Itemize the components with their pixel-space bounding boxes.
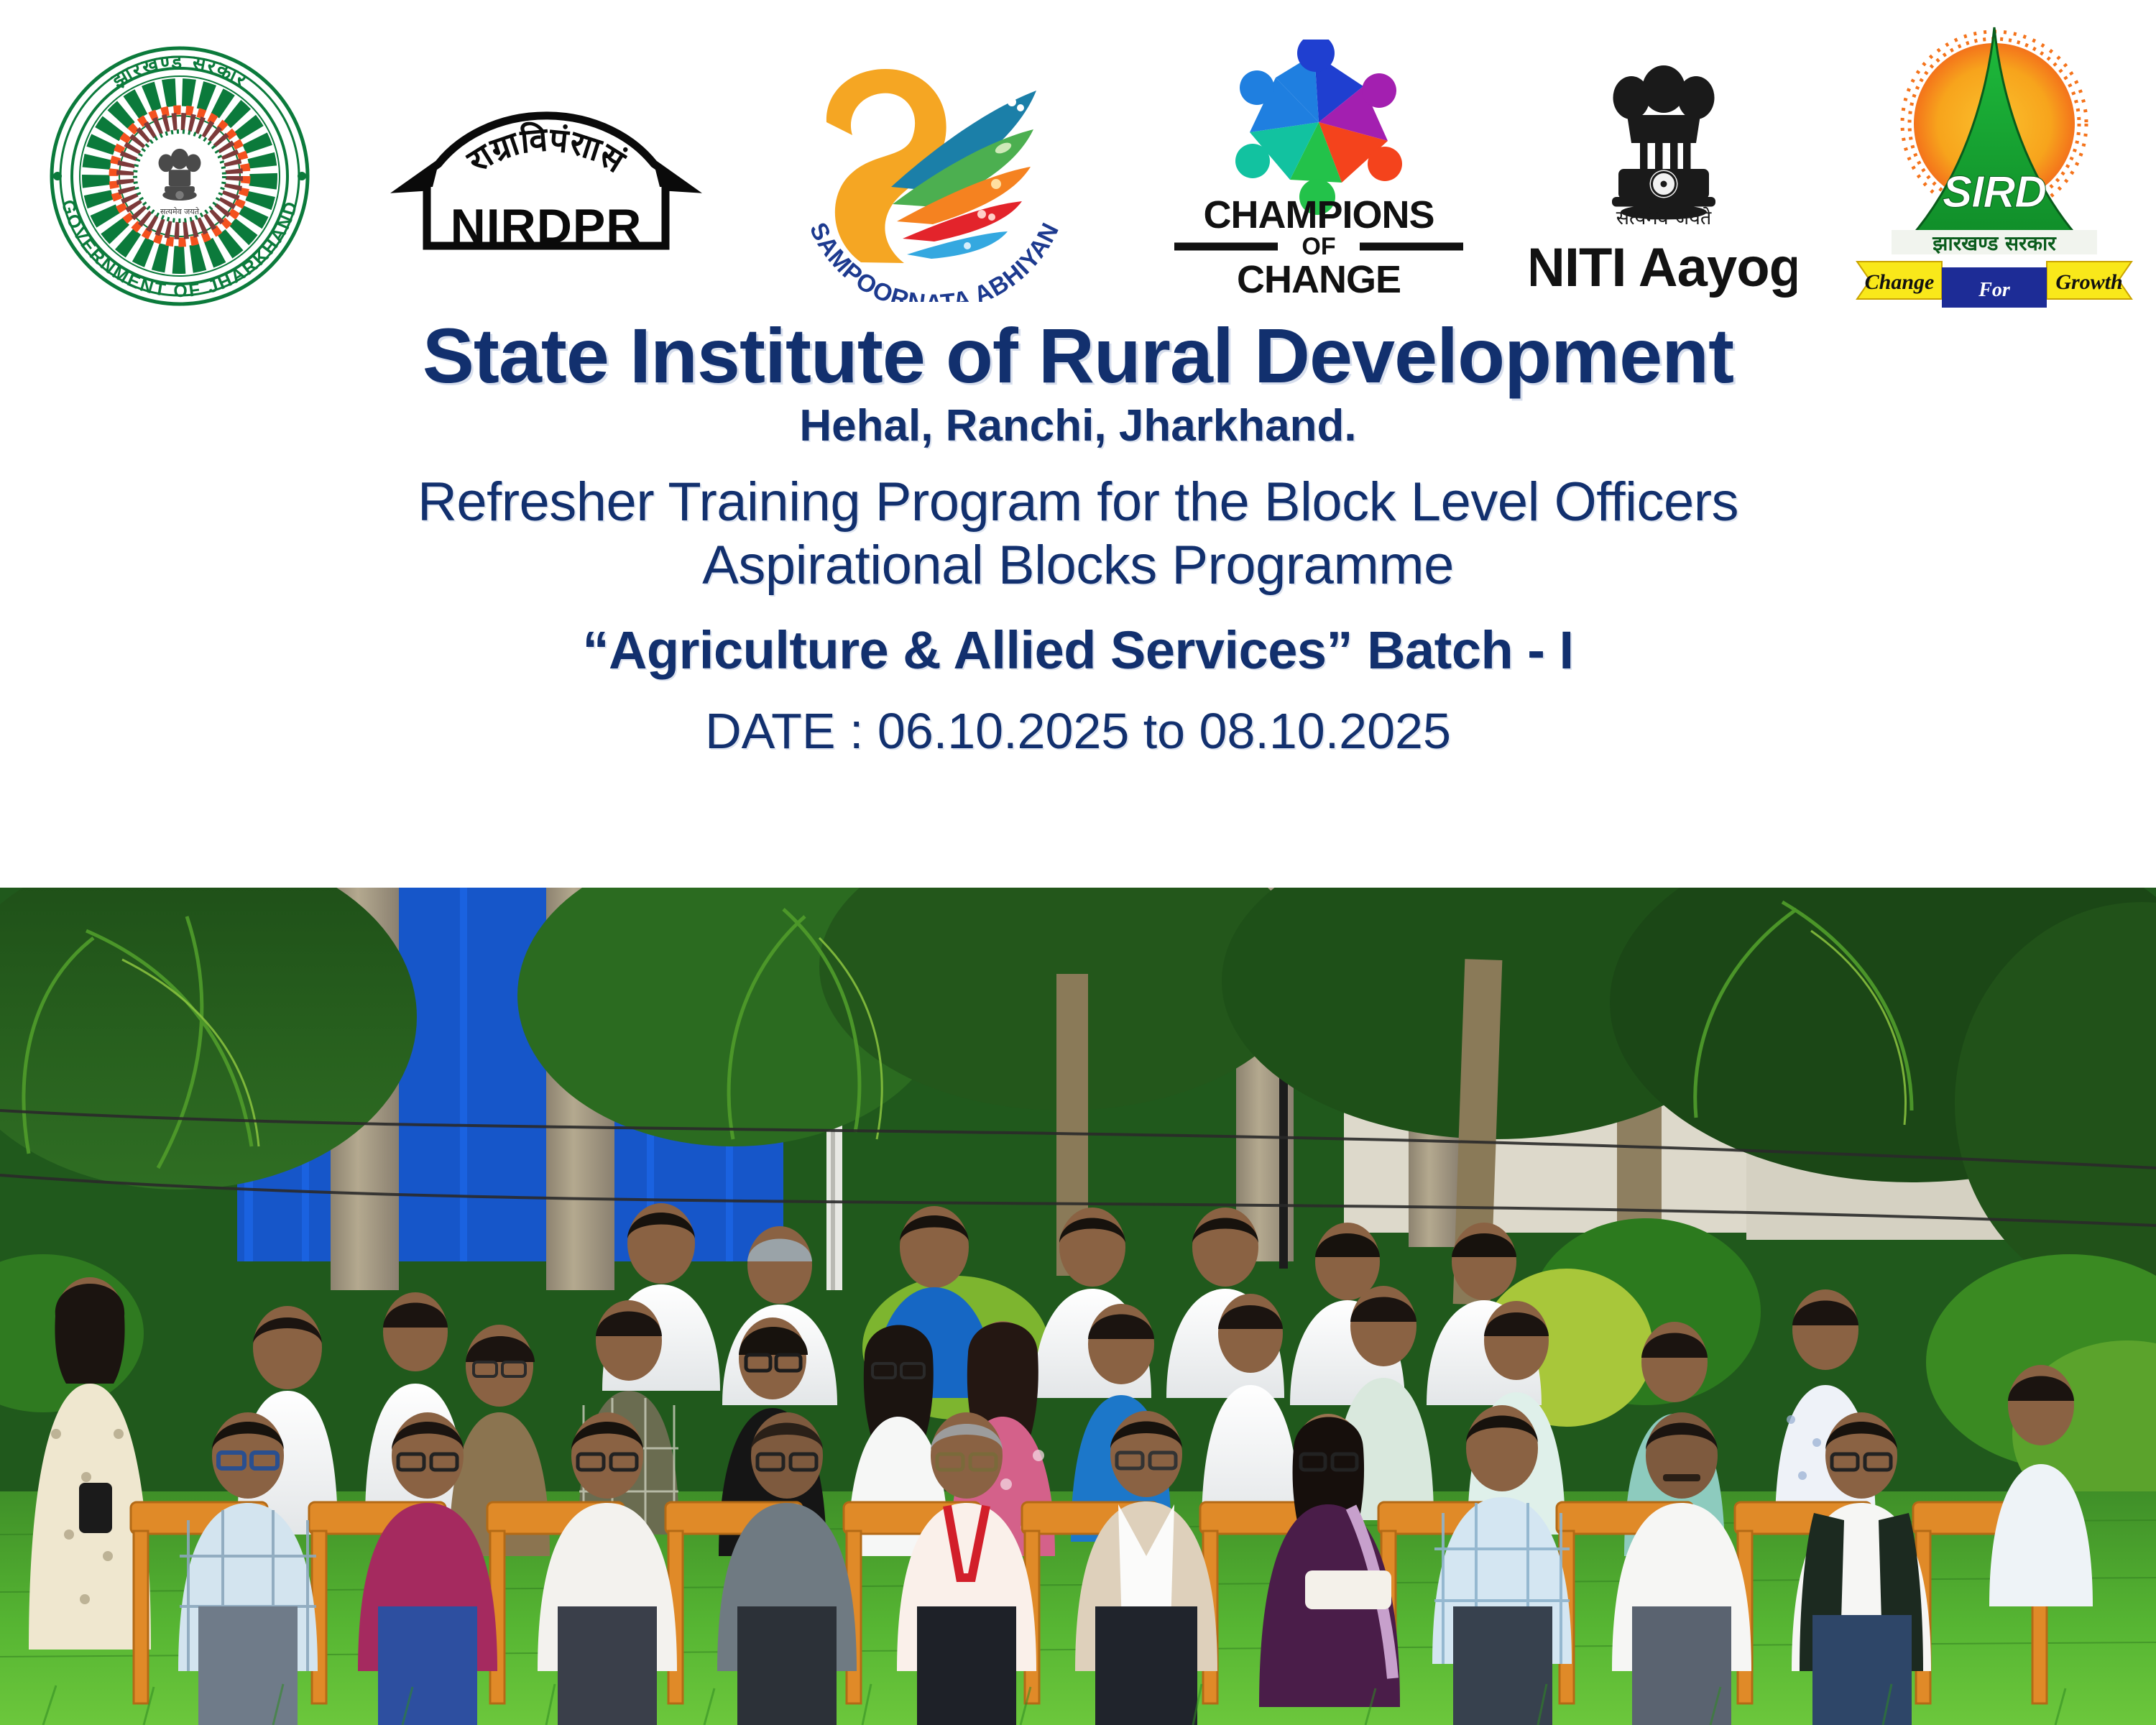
champions-line1-text: CHAMPIONS (1203, 193, 1434, 236)
institute-title: State Institute of Rural Development (0, 316, 2156, 395)
poster-root: सत्यमेव जयते झारखण्ड सरकार GOVERNMENT OF… (0, 0, 2156, 1725)
sampoornata-abhiyan-logo: SAMPOORNATA ABHIYAN (783, 50, 1085, 302)
logo-bar: सत्यमेव जयते झारखण्ड सरकार GOVERNMENT OF… (0, 0, 2156, 323)
sird-ribbon-right-text: Growth (2055, 270, 2122, 294)
sird-acronym-text: SIRD (1943, 167, 2046, 217)
sird-hindi-text: झारखण्ड सरकार (1932, 231, 2057, 255)
niti-label-text: NITI Aayog (1531, 237, 1797, 298)
nirdpr-logo: राग्राविपंराासं NIRDPR (388, 79, 704, 266)
champions-line3-text: CHANGE (1237, 258, 1401, 298)
champions-line2-text: OF (1302, 233, 1335, 260)
sird-logo: SIRD झारखण्ड सरकार Change For Growth (1847, 14, 2142, 316)
jharkhand-motto-text: सत्यमेव जयते (160, 207, 200, 216)
sird-ribbon-left-text: Change (1865, 270, 1935, 294)
nirdpr-acronym-text: NIRDPR (451, 199, 642, 254)
group-photograph (0, 888, 2156, 1725)
program-title-line-2: Aspirational Blocks Programme (0, 534, 2156, 597)
institute-location: Hehal, Ranchi, Jharkhand. (0, 402, 2156, 449)
government-of-jharkhand-logo: सत्यमेव जयते झारखण्ड सरकार GOVERNMENT OF… (29, 22, 331, 309)
niti-aayog-logo: सत्यमेव जयते NITI Aayog (1531, 43, 1797, 302)
sird-ribbon-mid-text: For (1978, 279, 2011, 301)
date-line: DATE : 06.10.2025 to 08.10.2025 (0, 704, 2156, 759)
program-title-line-1: Refresher Training Program for the Block… (0, 471, 2156, 533)
header-text-block: State Institute of Rural Development Heh… (0, 316, 2156, 759)
batch-title: “Agriculture & Allied Services” Batch - … (0, 621, 2156, 679)
niti-motto-text: सत्यमेव जयते (1616, 206, 1712, 229)
champions-of-change-logo: CHAMPIONS OF CHANGE (1171, 40, 1466, 298)
